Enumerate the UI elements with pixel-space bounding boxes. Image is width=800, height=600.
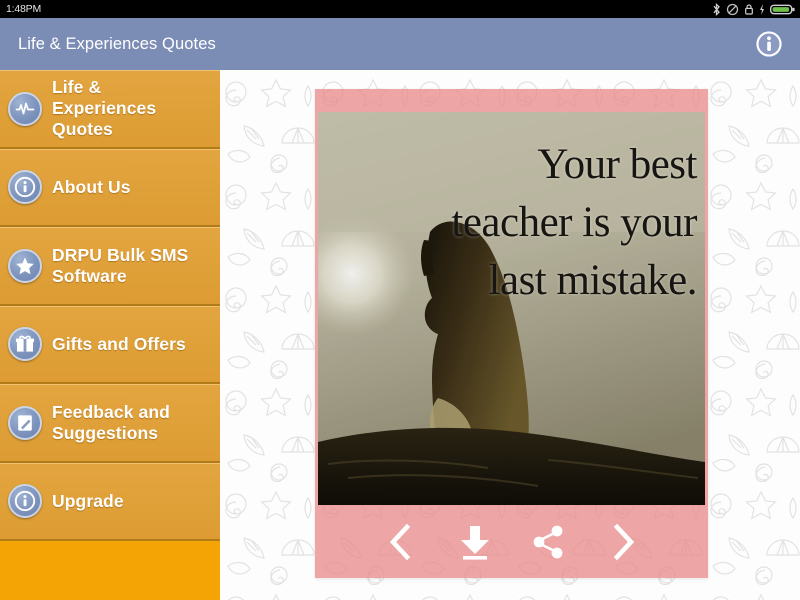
feedback-icon (8, 406, 42, 440)
info-icon[interactable] (754, 29, 784, 59)
mute-icon (726, 3, 739, 16)
quote-image: Your best teacher is your last mistake. (318, 112, 705, 505)
image-action-toolbar (318, 505, 705, 578)
sidebar-item-drpu-bulk-sms-software[interactable]: DRPU Bulk SMS Software (0, 227, 220, 306)
sidebar-item-life-experiences-quotes[interactable]: Life & Experiences Quotes (0, 70, 220, 149)
status-bar: 1:48PM (0, 0, 800, 18)
content-area: Your best teacher is your last mistake. (220, 70, 800, 600)
share-icon[interactable] (526, 519, 572, 565)
star-icon (8, 249, 42, 283)
status-icon-tray (712, 3, 795, 16)
info-icon (8, 170, 42, 204)
sidebar-item-about-us[interactable]: About Us (0, 149, 220, 227)
bluetooth-icon (712, 3, 721, 16)
chevron-left-icon[interactable] (378, 519, 424, 565)
pulse-icon (8, 92, 42, 126)
sidebar-item-label: About Us (52, 177, 131, 198)
page-title: Life & Experiences Quotes (18, 35, 216, 54)
sidebar-item-gifts-and-offers[interactable]: Gifts and Offers (0, 306, 220, 384)
status-time: 1:48PM (6, 3, 41, 15)
chevron-right-icon[interactable] (600, 519, 646, 565)
sidebar-item-feedback-and-suggestions[interactable]: Feedback and Suggestions (0, 384, 220, 463)
battery-icon (770, 3, 795, 16)
download-icon[interactable] (452, 519, 498, 565)
app-bar: Life & Experiences Quotes (0, 18, 800, 70)
gift-icon (8, 327, 42, 361)
quote-card: Your best teacher is your last mistake. (315, 89, 708, 578)
sidebar-item-label: Gifts and Offers (52, 334, 186, 355)
sidebar-item-label: DRPU Bulk SMS Software (52, 245, 210, 287)
rotation-lock-icon (744, 3, 754, 16)
sidebar-item-label: Upgrade (52, 491, 124, 512)
sidebar-nav-list: Life & Experiences Quotes About Us (0, 70, 220, 541)
quote-text: Your best teacher is your last mistake. (447, 136, 697, 310)
info-icon (8, 484, 42, 518)
sidebar-item-label: Feedback and Suggestions (52, 402, 210, 444)
sidebar: Life & Experiences Quotes About Us (0, 70, 220, 600)
sidebar-item-upgrade[interactable]: Upgrade (0, 463, 220, 541)
app-screen: 1:48PM (0, 0, 800, 600)
charging-bolt-icon (759, 3, 765, 16)
sidebar-item-label: Life & Experiences Quotes (52, 77, 210, 140)
